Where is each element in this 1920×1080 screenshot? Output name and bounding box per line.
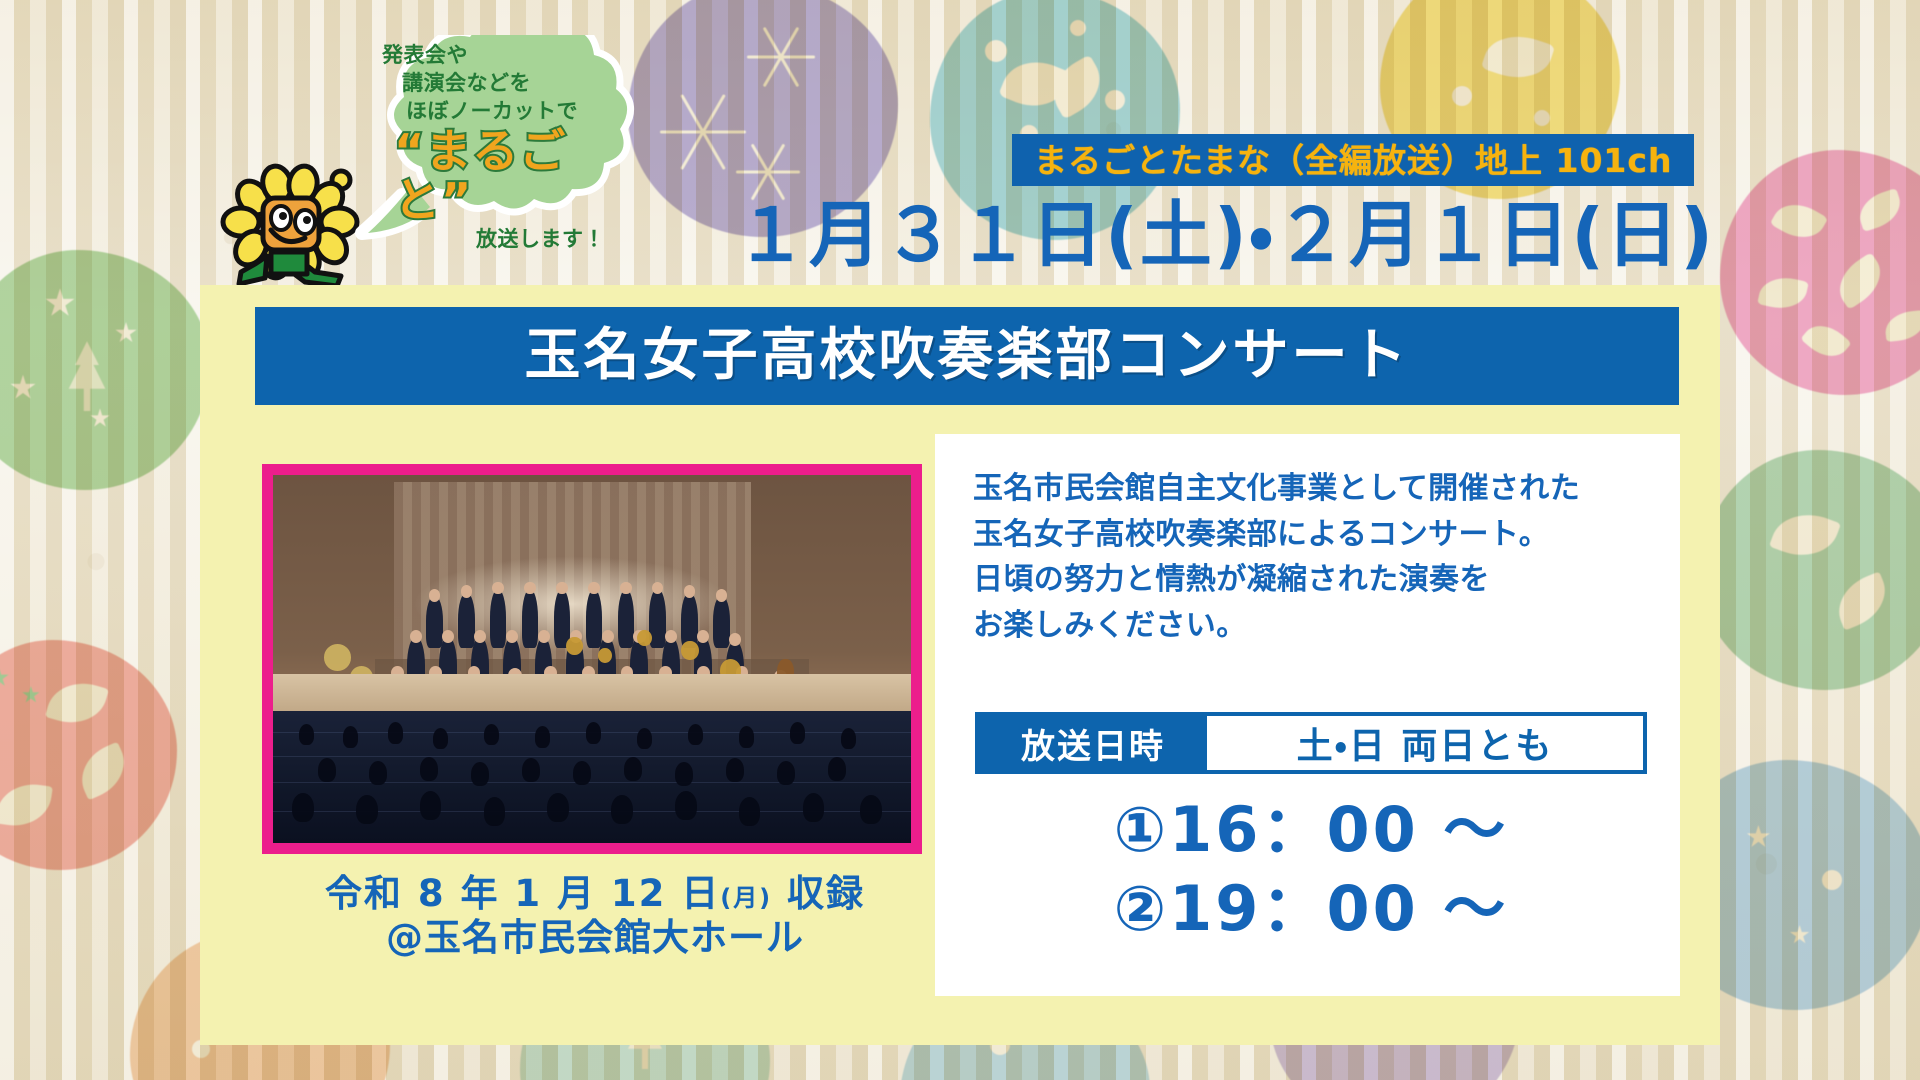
air-date: １月３１日(土)・２月１日(日)	[745, 190, 1705, 280]
broadcast-time-1: ①16：00 〜	[975, 790, 1647, 869]
concert-photo	[273, 475, 911, 843]
concert-photo-frame	[262, 464, 922, 854]
bubble-line-2: 講演会などを	[402, 70, 642, 98]
caption-date-main: 令和 8 年 1 月 12 日	[325, 872, 720, 915]
bubble-line-3: ほぼノーカットで	[406, 98, 642, 126]
bubble-highlight: “まるごと”	[394, 127, 642, 224]
channel-banner-text: まるごとたまな（全編放送）地上 101ch	[1034, 144, 1672, 177]
caption-date-weekday: (月)	[720, 884, 772, 912]
description-line-1: 玉名市民会館自主文化事業として開催された	[973, 466, 1654, 512]
description-line-2: 玉名女子高校吹奏楽部によるコンサート。	[973, 512, 1654, 558]
program-title-bar: 玉名女子高校吹奏楽部コンサート	[255, 307, 1679, 405]
broadcast-times: ①16：00 〜 ②19：00 〜	[975, 790, 1647, 949]
broadcast-schedule-value: 土・日 両日とも	[1207, 716, 1643, 770]
description-line-4: お楽しみください。	[973, 603, 1654, 649]
description-line-3: 日頃の努力と情熱が凝縮された演奏を	[973, 557, 1654, 603]
broadcast-schedule-label: 放送日時	[979, 716, 1207, 770]
photo-caption: 令和 8 年 1 月 12 日(月) 収録 @玉名市民会館大ホール	[250, 872, 940, 959]
caption-date-tail: 収録	[772, 872, 865, 915]
broadcast-schedule-box: 放送日時 土・日 両日とも	[975, 712, 1647, 774]
speech-bubble: 発表会や 講演会などを ほぼノーカットで “まるごと” 放送します！	[340, 35, 660, 265]
program-title: 玉名女子高校吹奏楽部コンサート	[525, 328, 1410, 384]
caption-recording-date: 令和 8 年 1 月 12 日(月) 収録	[250, 872, 940, 916]
bubble-line-1: 発表会や	[382, 42, 642, 70]
bubble-line-5: 放送します！	[476, 226, 642, 254]
broadcast-time-2: ②19：00 〜	[975, 869, 1647, 948]
channel-banner: まるごとたまな（全編放送）地上 101ch	[1012, 134, 1694, 186]
program-description: 玉名市民会館自主文化事業として開催された 玉名女子高校吹奏楽部によるコンサート。…	[973, 466, 1654, 648]
caption-venue: @玉名市民会館大ホール	[250, 916, 940, 960]
air-date-text: １月３１日(土)・２月１日(日)	[735, 199, 1715, 271]
poster-canvas: 発表会や 講演会などを ほぼノーカットで “まるごと” 放送します！ まるごとた…	[0, 0, 1920, 1080]
